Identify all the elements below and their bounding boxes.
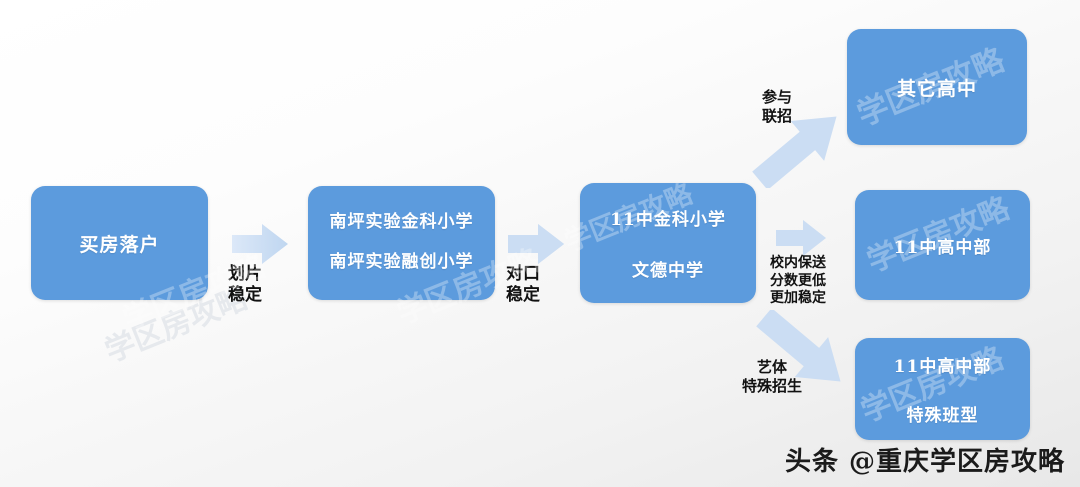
arrow-right-icon: [776, 218, 826, 258]
edge-label-line: 参与: [762, 88, 792, 107]
edge-label-joint-admission: 参与 联招: [762, 88, 792, 126]
diagram-canvas: 学区房攻略 买房落户 学区房攻略 南坪实验金科小学 南坪实验融创小学 学区房攻略…: [0, 0, 1080, 487]
edge-label-direct-stable: 对口 稳定: [506, 264, 540, 307]
node-line: 文德中学: [632, 256, 704, 281]
node-line: 其它高中: [897, 74, 977, 101]
edge-label-arts-sports-admission: 艺体 特殊招生: [742, 358, 802, 396]
node-line: 11中高中部: [894, 233, 992, 258]
edge-label-line: 艺体: [742, 358, 802, 377]
edge-label-line: 更加稳定: [770, 290, 826, 308]
node-line: 南坪实验金科小学: [330, 214, 474, 232]
channel-credit: 头条 @重庆学区房攻略: [785, 441, 1065, 478]
edge-label-line: 分数更低: [770, 273, 826, 291]
edge-label-line: 划片: [228, 264, 262, 285]
node-no11-high-school[interactable]: 11中高中部: [855, 190, 1030, 300]
node-line: 南坪实验融创小学: [330, 254, 474, 272]
edge-label-line: 稳定: [228, 285, 262, 306]
edge-label-zoning-stable: 划片 稳定: [228, 264, 262, 307]
edge-label-line: 校内保送: [770, 255, 826, 273]
arrow-up-right-icon: [744, 108, 854, 188]
edge-label-line: 联招: [762, 107, 792, 126]
edge-label-line: 特殊招生: [742, 377, 802, 396]
node-line: 买房落户: [79, 230, 159, 257]
edge-label-internal-recommendation: 校内保送 分数更低 更加稳定: [770, 255, 826, 308]
node-primary-schools[interactable]: 南坪实验金科小学 南坪实验融创小学: [308, 186, 495, 300]
arrow-right-icon: [508, 222, 564, 266]
node-buy-house-settle[interactable]: 买房落户: [31, 186, 208, 300]
node-line: 11中金科小学: [610, 205, 726, 230]
node-middle-schools[interactable]: 11中金科小学 文德中学: [580, 183, 756, 303]
node-other-high-schools[interactable]: 其它高中: [847, 29, 1027, 145]
arrow-right-icon: [232, 222, 288, 266]
edge-label-line: 稳定: [506, 285, 540, 306]
node-line: 特殊班型: [907, 401, 979, 426]
edge-label-line: 对口: [506, 264, 540, 285]
node-no11-high-school-special[interactable]: 11中高中部 特殊班型: [855, 338, 1030, 440]
node-line: 11中高中部: [894, 352, 992, 377]
